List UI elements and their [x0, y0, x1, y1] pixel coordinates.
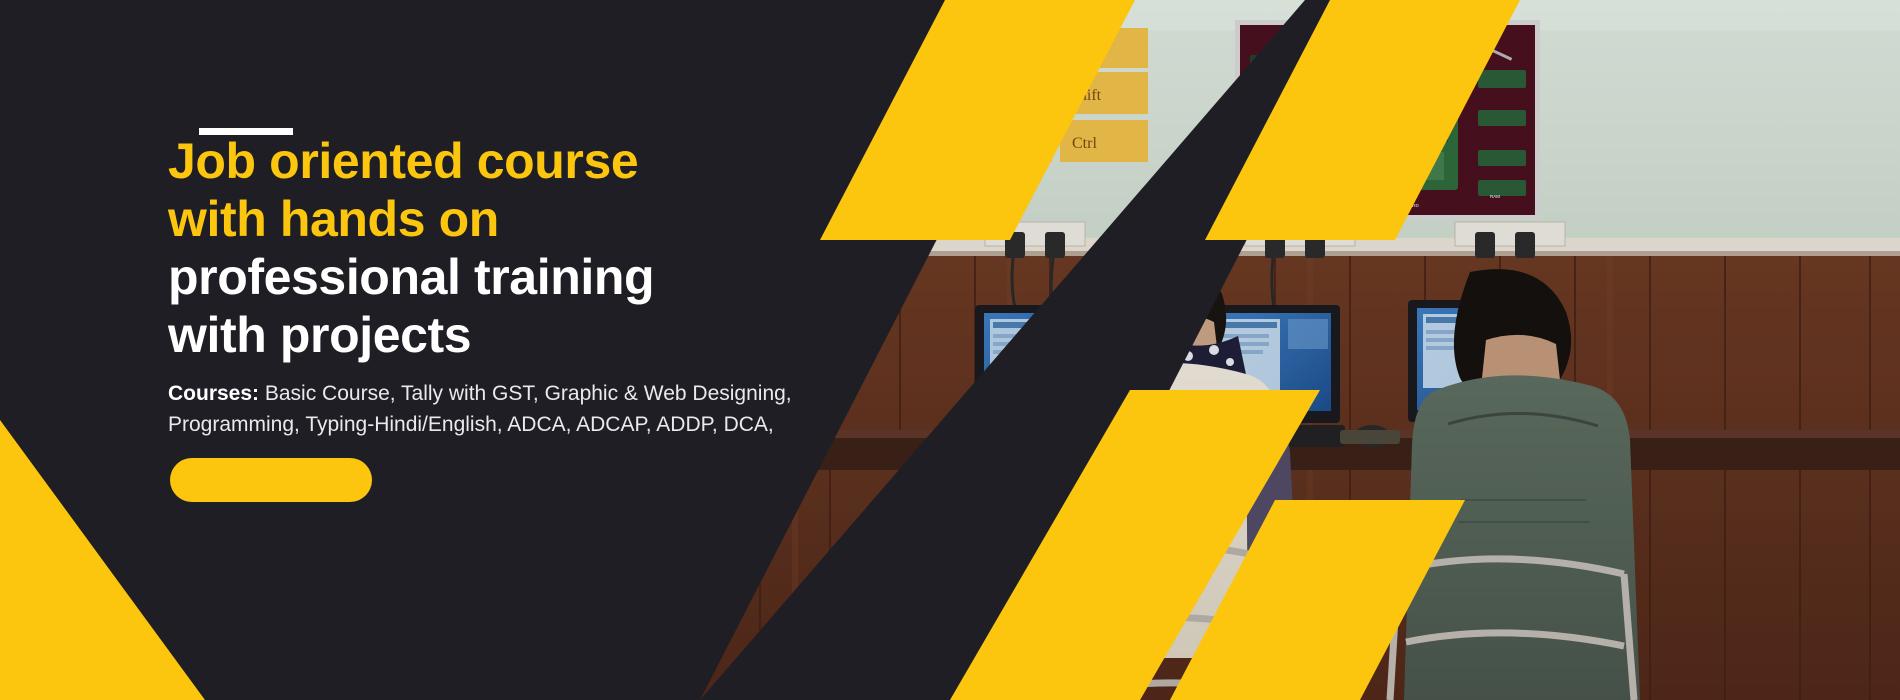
headline-line-4: with projects: [168, 306, 908, 364]
headline-line-3: professional training: [168, 248, 908, 306]
banner-content: Job oriented course with hands on profes…: [168, 0, 928, 700]
page-title: Job oriented course with hands on profes…: [168, 132, 908, 364]
courses-line-1: Basic Course, Tally with GST, Graphic & …: [259, 382, 792, 405]
headline-line-2: with hands on: [168, 190, 908, 248]
courses-line-2: Programming, Typing-Hindi/English, ADCA,…: [168, 413, 774, 436]
cta-button[interactable]: [170, 458, 372, 502]
courses-label: Courses:: [168, 382, 259, 405]
headline-line-1: Job oriented course: [168, 132, 908, 190]
courses-paragraph: Courses: Basic Course, Tally with GST, G…: [168, 378, 868, 440]
promo-banner: K L : ; Enter M < ? ?: [0, 0, 1900, 700]
